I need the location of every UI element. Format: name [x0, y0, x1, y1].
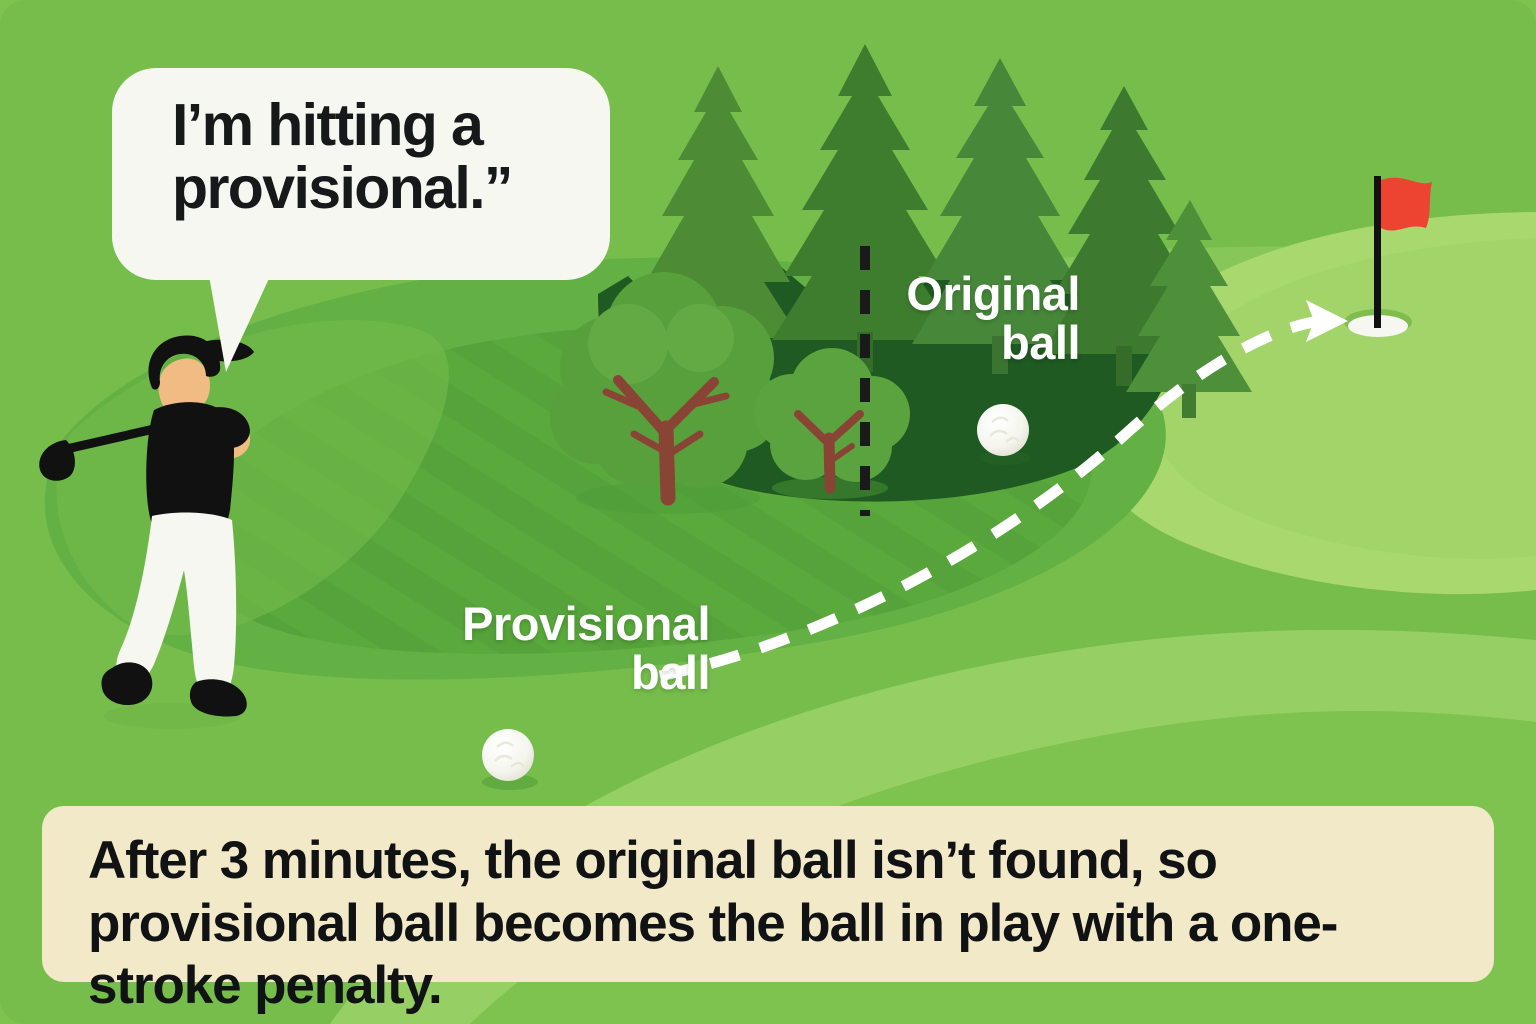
speech-bubble: I’m hitting a provisional.”	[112, 68, 610, 280]
caption-text: After 3 minutes, the original ball isn’t…	[88, 830, 1450, 1018]
provisional-ball-label: Provisional ball	[260, 600, 710, 698]
original-ball-label: Original ball	[740, 270, 1080, 368]
caption-box: After 3 minutes, the original ball isn’t…	[42, 806, 1494, 982]
flag-pole	[1374, 176, 1381, 328]
speech-bubble-text: I’m hitting a provisional.”	[172, 94, 576, 219]
golf-rule-infographic: I’m hitting a provisional.” Original bal…	[0, 0, 1536, 1024]
flag-cloth	[1381, 178, 1432, 231]
